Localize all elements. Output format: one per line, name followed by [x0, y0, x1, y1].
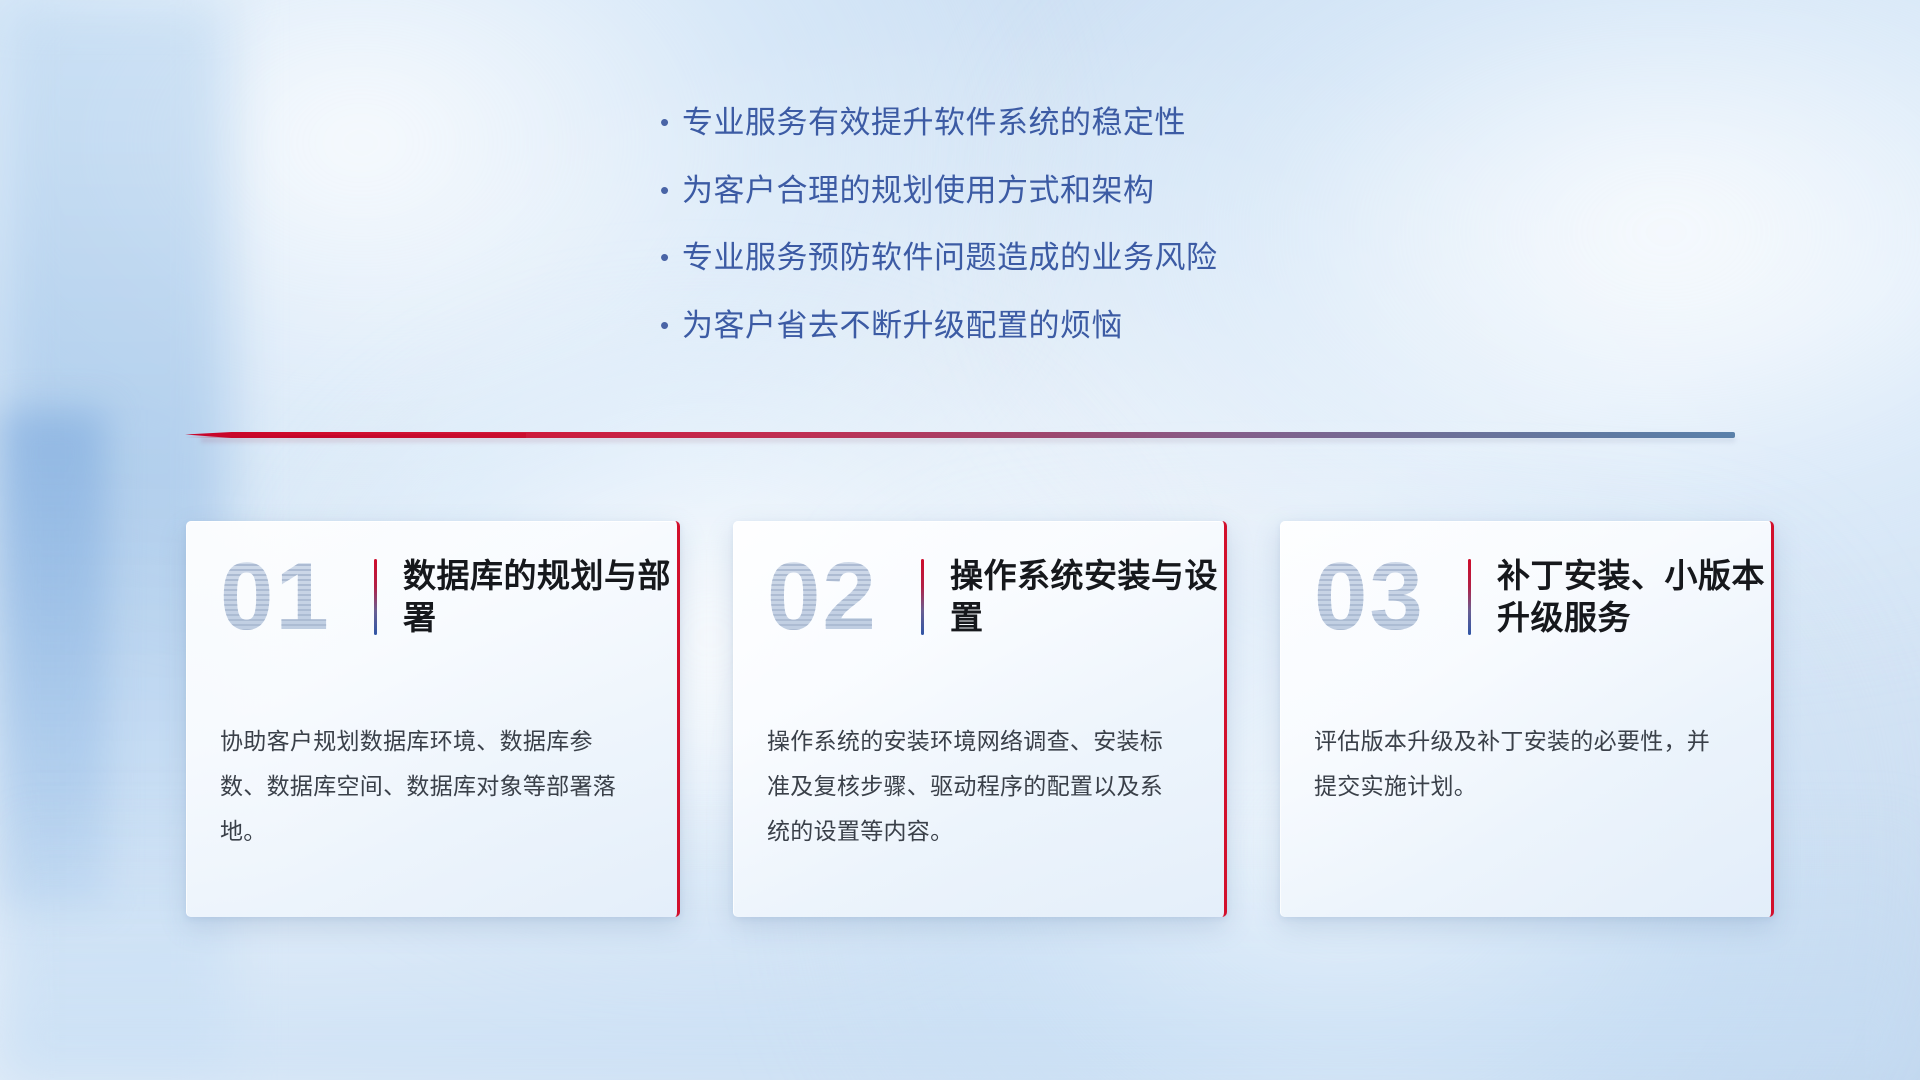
- service-card-01[interactable]: 01 数据库的规划与部署 协助客户规划数据库环境、数据库参数、数据库空间、数据库…: [186, 521, 680, 917]
- card-header: 02 操作系统安装与设置: [733, 521, 1224, 673]
- service-card-02[interactable]: 02 操作系统安装与设置 操作系统的安装环境网络调查、安装标准及复核步骤、驱动程…: [733, 521, 1227, 917]
- bullet-dot-icon: •: [660, 244, 682, 270]
- card-divider-rule: [374, 559, 377, 635]
- card-number: 02: [767, 549, 917, 645]
- card-body-text: 评估版本升级及补丁安装的必要性，并提交实施计划。: [1280, 673, 1771, 809]
- bullet-text: 为客户省去不断升级配置的烦恼: [682, 308, 1123, 344]
- list-item: • 专业服务预防软件问题造成的业务风险: [660, 240, 1218, 276]
- bullet-text: 专业服务有效提升软件系统的稳定性: [682, 105, 1186, 141]
- bullet-dot-icon: •: [660, 312, 682, 338]
- card-title: 数据库的规划与部署: [403, 555, 677, 639]
- card-body-text: 协助客户规划数据库环境、数据库参数、数据库空间、数据库对象等部署落地。: [186, 673, 677, 854]
- card-number: 03: [1314, 549, 1464, 645]
- card-header: 03 补丁安装、小版本升级服务: [1280, 521, 1771, 673]
- card-title: 补丁安装、小版本升级服务: [1497, 555, 1771, 639]
- bullet-dot-icon: •: [660, 177, 682, 203]
- divider-shadow: [201, 438, 1736, 442]
- bullet-text: 为客户合理的规划使用方式和架构: [682, 173, 1155, 209]
- card-divider-rule: [1468, 559, 1471, 635]
- bullet-dot-icon: •: [660, 109, 682, 135]
- benefits-bullet-list: • 专业服务有效提升软件系统的稳定性 • 为客户合理的规划使用方式和架构 • 专…: [660, 105, 1218, 344]
- list-item: • 为客户合理的规划使用方式和架构: [660, 173, 1218, 209]
- service-card-group: 01 数据库的规划与部署 协助客户规划数据库环境、数据库参数、数据库空间、数据库…: [186, 521, 1774, 917]
- card-title: 操作系统安装与设置: [950, 555, 1224, 639]
- list-item: • 专业服务有效提升软件系统的稳定性: [660, 105, 1218, 141]
- bullet-text: 专业服务预防软件问题造成的业务风险: [682, 240, 1218, 276]
- card-header: 01 数据库的规划与部署: [186, 521, 677, 673]
- card-body-text: 操作系统的安装环境网络调查、安装标准及复核步骤、驱动程序的配置以及系统的设置等内…: [733, 673, 1224, 854]
- card-divider-rule: [921, 559, 924, 635]
- card-number: 01: [220, 549, 370, 645]
- service-card-03[interactable]: 03 补丁安装、小版本升级服务 评估版本升级及补丁安装的必要性，并提交实施计划。: [1280, 521, 1774, 917]
- section-divider: [185, 427, 1735, 443]
- list-item: • 为客户省去不断升级配置的烦恼: [660, 308, 1218, 344]
